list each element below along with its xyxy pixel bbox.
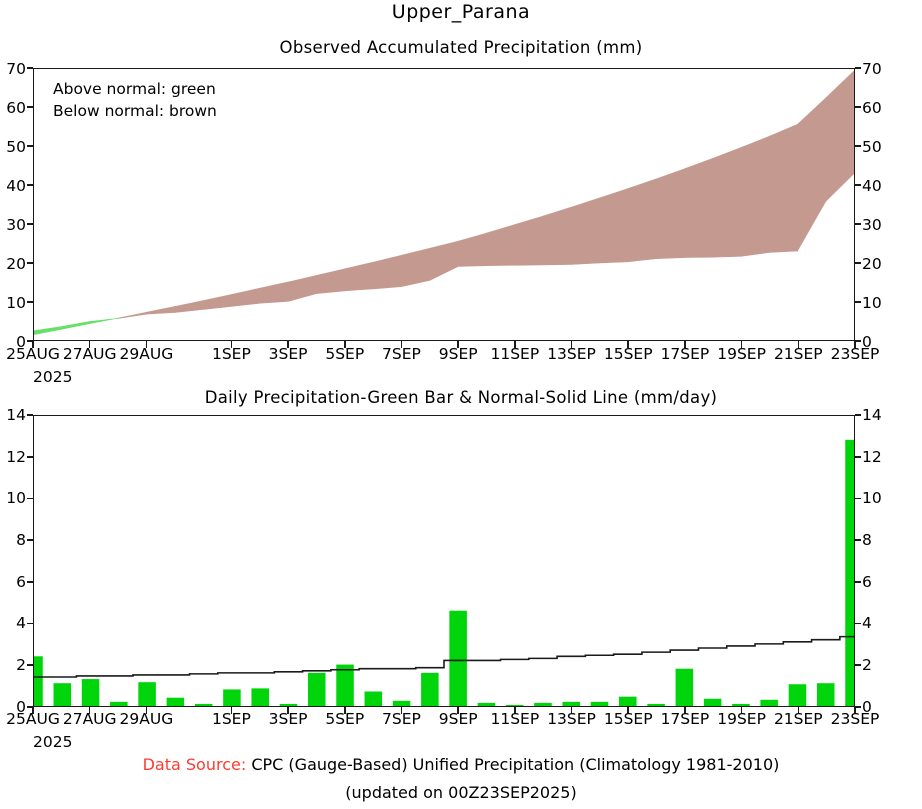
acc-ytick-60: 60 [0,99,26,117]
data-source-label: Data Source: [143,755,247,774]
accumulated-precipitation-chart: Observed Accumulated Precipitation (mm) … [0,38,922,378]
accumulated-band-segment [543,207,571,265]
daily-precip-bar [534,703,552,706]
y-tick-mark [27,414,33,416]
accumulated-band-segment [741,136,769,256]
y-tick-mark [855,706,861,708]
accumulated-band-segment [119,312,147,318]
x-tick-label: 23SEP [813,710,897,728]
y-tick-mark [27,664,33,666]
y-tick-mark [855,623,861,625]
daily-precip-bar [54,683,72,706]
daily-ytick-right-12: 12 [862,448,882,466]
accumulated-band-segment [91,318,119,323]
daily-precip-bar [167,698,185,706]
daily-precip-bar [760,700,778,706]
accumulated-band-segment [628,179,656,262]
accumulated-band-segment [147,306,175,314]
accumulated-band-segment [458,233,486,266]
y-tick-mark [27,184,33,186]
acc-ytick-30: 30 [0,216,26,234]
y-tick-mark [855,145,861,147]
daily-precip-bar [34,656,43,706]
legend-below-normal: Below normal: brown [53,100,217,122]
daily-precip-bar [110,702,128,706]
accumulated-band-segment [34,326,62,334]
daily-precip-bar [393,701,411,706]
acc-ytick-70: 70 [0,60,26,78]
acc-ytick-right-60: 60 [862,99,882,117]
daily-precip-bar [506,705,524,706]
daily-ytick-right-2: 2 [862,656,872,674]
daily-ytick-10: 10 [0,489,26,507]
daily-precip-bar [336,665,354,706]
page-title: Upper_Parana [0,1,922,23]
y-tick-mark [27,456,33,458]
daily-precip-bar [789,684,807,706]
y-tick-mark [855,456,861,458]
y-tick-mark [27,539,33,541]
accumulated-band-segment [317,269,345,294]
x-tick-label: 23SEP [813,345,897,363]
accumulated-band-segment [175,301,203,313]
y-tick-mark [855,67,861,69]
daily-precip-bar [365,692,383,707]
y-tick-mark [27,340,33,342]
data-source-text: CPC (Gauge-Based) Unified Precipitation … [251,755,779,774]
y-tick-mark [27,706,33,708]
y-tick-mark [855,539,861,541]
daily-bars-svg [34,416,854,706]
acc-ytick-right-30: 30 [862,216,882,234]
daily-precip-bar [478,703,496,706]
daily-precip-bar [619,697,637,706]
daily-ytick-4: 4 [0,614,26,632]
y-tick-mark [855,223,861,225]
accumulated-band-segment [486,225,514,266]
daily-ytick-12: 12 [0,448,26,466]
y-tick-mark [27,262,33,264]
y-tick-mark [27,145,33,147]
acc-ytick-10: 10 [0,294,26,312]
daily-ytick-right-6: 6 [862,573,872,591]
daily-precip-bar [138,682,156,706]
daily-precip-bar [251,688,269,706]
daily-plot-area [33,415,855,707]
y-tick-mark [27,223,33,225]
daily-precip-bar [676,669,694,706]
accumulated-legend: Above normal: green Below normal: brown [53,78,217,122]
daily-precip-bar [704,699,722,706]
daily-ytick-right-10: 10 [862,489,882,507]
accumulated-band-segment [62,321,90,329]
daily-precip-bar [732,704,750,706]
y-tick-mark [855,340,861,342]
x-tick-label: 29AUG [104,345,188,363]
y-tick-mark [855,664,861,666]
footer-source: Data Source: CPC (Gauge-Based) Unified P… [0,755,922,774]
accumulated-band-segment [826,71,854,201]
accumulated-chart-title: Observed Accumulated Precipitation (mm) [0,38,922,57]
accumulated-band-segment [402,248,430,286]
accumulated-band-segment [373,255,401,289]
accumulated-band-segment [515,216,543,265]
acc-ytick-right-70: 70 [862,60,882,78]
acc-ytick-50: 50 [0,138,26,156]
accumulated-band-segment [797,98,825,251]
accumulated-band-segment [769,124,797,252]
acc-ytick-right-20: 20 [862,255,882,273]
acc-ytick-right-10: 10 [862,294,882,312]
daily-normal-line [34,637,854,677]
accumulated-band-segment [600,189,628,263]
daily-precip-bar [591,702,609,706]
y-tick-mark [855,498,861,500]
daily-ytick-right-8: 8 [862,531,872,549]
acc-ytick-20: 20 [0,255,26,273]
daily-precip-bar [195,704,213,706]
daily-precip-bar [421,673,439,706]
y-tick-mark [27,623,33,625]
daily-precip-bar [562,702,580,706]
daily-chart-title: Daily Precipitation-Green Bar & Normal-S… [0,388,922,407]
accumulated-band-segment [232,288,260,306]
daily-ytick-6: 6 [0,573,26,591]
y-tick-mark [27,67,33,69]
daily-precip-bar [817,683,835,706]
accumulated-band-segment [345,262,373,291]
accumulated-band-segment [713,148,741,258]
y-tick-mark [855,581,861,583]
daily-ytick-2: 2 [0,656,26,674]
y-tick-mark [855,262,861,264]
daily-ytick-right-4: 4 [862,614,872,632]
daily-ytick-right-14: 14 [862,406,882,424]
accumulated-band-segment [260,282,288,303]
accumulated-band-segment [204,294,232,309]
daily-precip-bar [223,689,241,706]
accumulated-band-segment [684,158,712,257]
y-tick-mark [27,106,33,108]
daily-year-label: 2025 [33,733,72,751]
acc-ytick-right-50: 50 [862,138,882,156]
daily-precip-bar [449,611,467,706]
y-tick-mark [27,301,33,303]
footer-updated: (updated on 00Z23SEP2025) [0,783,922,802]
daily-precip-bar [308,673,326,706]
daily-ytick-14: 14 [0,406,26,424]
acc-ytick-right-40: 40 [862,177,882,195]
x-tick-label: 29AUG [104,710,188,728]
daily-precip-bar [845,440,854,706]
daily-precip-bar [280,704,298,706]
y-tick-mark [855,184,861,186]
legend-above-normal: Above normal: green [53,78,217,100]
precipitation-report: Upper_Parana Observed Accumulated Precip… [0,0,922,809]
y-tick-mark [27,498,33,500]
acc-ytick-40: 40 [0,177,26,195]
accumulated-band-segment [656,169,684,259]
daily-precip-bar [82,679,100,706]
daily-ytick-8: 8 [0,531,26,549]
y-tick-mark [27,581,33,583]
accumulated-year-label: 2025 [33,368,72,386]
y-tick-mark [855,414,861,416]
accumulated-band-segment [571,198,599,265]
accumulated-band-segment [430,241,458,280]
y-tick-mark [855,301,861,303]
daily-precip-bar [647,704,665,706]
daily-precipitation-chart: Daily Precipitation-Green Bar & Normal-S… [0,388,922,738]
accumulated-band-segment [288,275,316,301]
y-tick-mark [855,106,861,108]
